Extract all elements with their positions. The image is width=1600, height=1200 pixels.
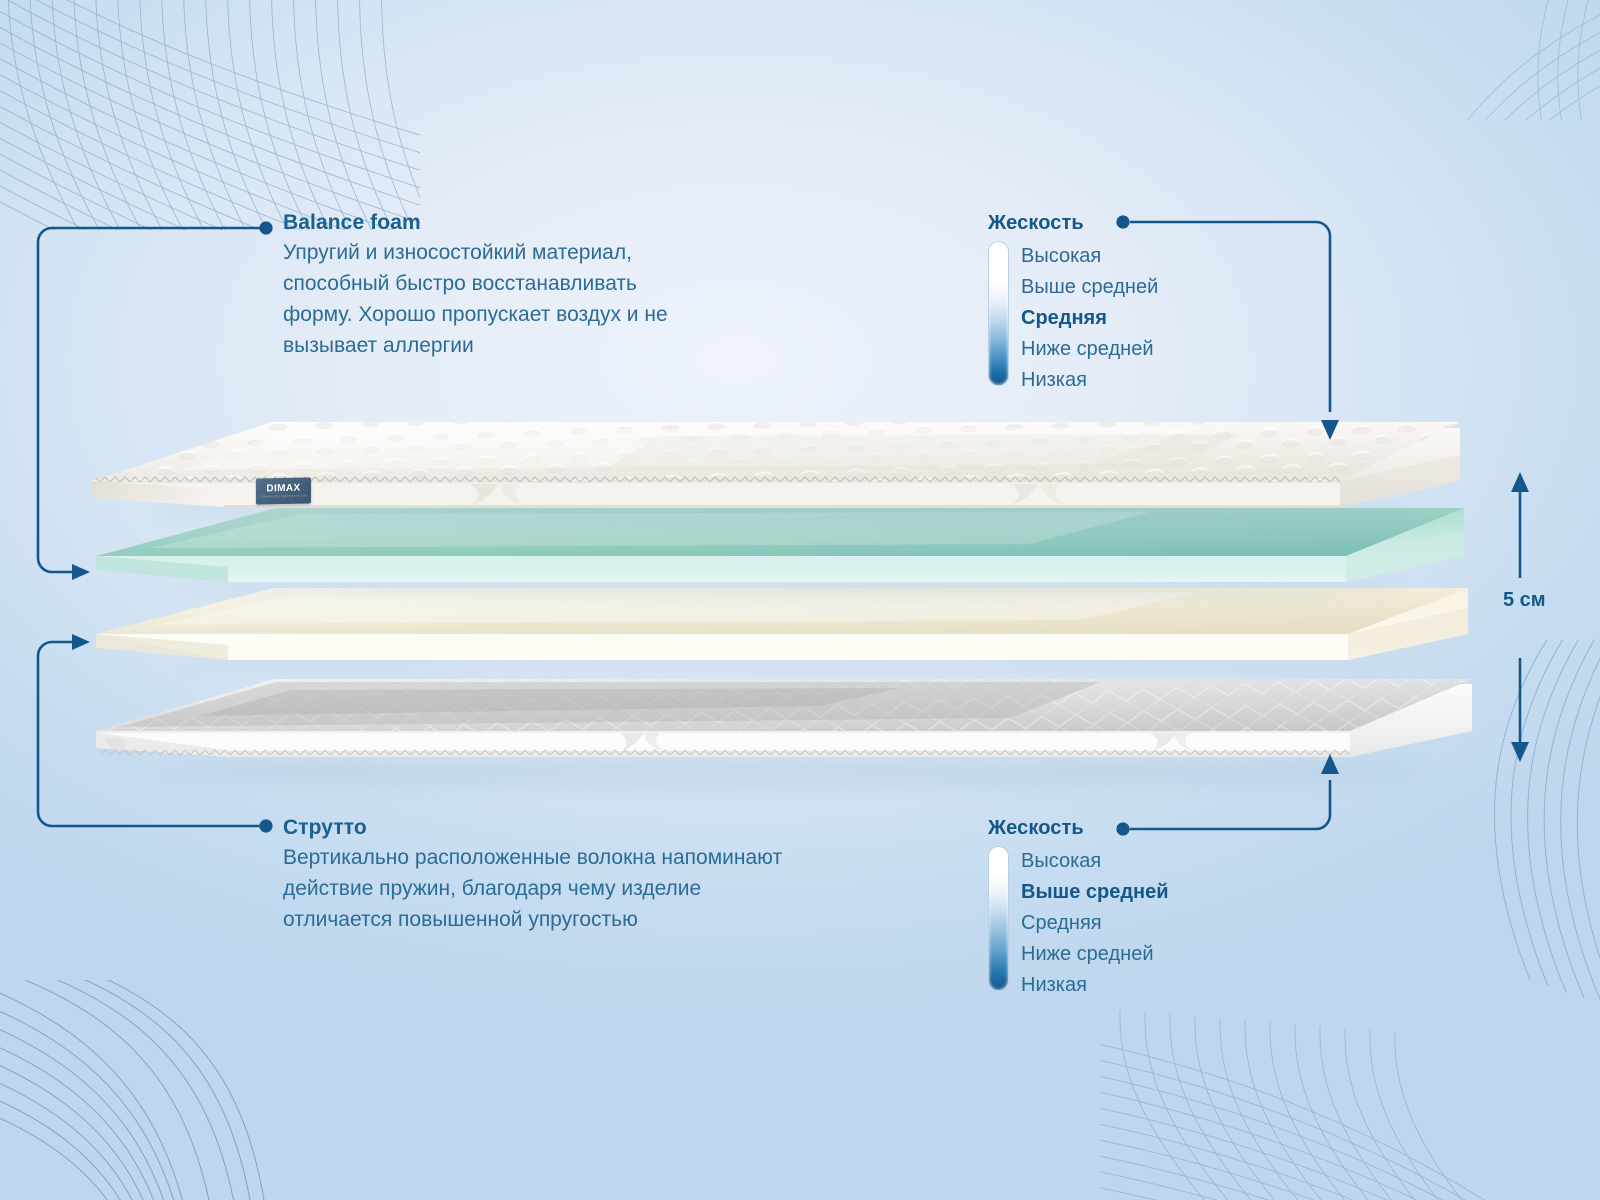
hardness-level: Выше средней [1021,272,1158,303]
dimension-arrow-down [1511,742,1529,762]
hardness-level: Ниже средней [1021,334,1158,365]
arrow-to-bottom-layer [1321,754,1339,774]
hardness-level: Средняя [1021,908,1169,939]
dimension-label: 5 см [1503,589,1546,612]
arrow-to-top-layer [1321,420,1339,440]
hardness-level-selected: Выше средней [1021,877,1169,908]
dimax-logo-subtext: ТОВАРЫ ДЛЯ ЗДОРОВОГО СНА [260,495,307,499]
callout-top-body: Упругий и износостойкий материал, способ… [283,238,703,361]
hardness-top-levels: Высокая Выше средней Средняя Ниже средне… [1021,241,1158,395]
hardness-level: Ниже средней [1021,939,1169,970]
callout-bottom-body: Вертикально расположенные волокна напоми… [283,843,783,936]
hardness-bottom-levels: Высокая Выше средней Средняя Ниже средне… [1021,846,1169,1000]
hardness-level: Низкая [1021,970,1169,1001]
callout-dot-top-left [259,221,272,234]
dimax-brand-tag: DIMAX ТОВАРЫ ДЛЯ ЗДОРОВОГО СНА [256,477,311,504]
arrow-to-teal-layer [72,564,90,580]
dimax-logo-text: DIMAX [266,483,300,494]
hardness-top-gradient-bar [988,241,1009,386]
infographic-canvas: DIMAX ТОВАРЫ ДЛЯ ЗДОРОВОГО СНА Balance f… [0,0,1600,1200]
dimension-arrow-up [1511,472,1529,492]
hardness-level-selected: Средняя [1021,303,1158,334]
hardness-bottom-gradient-bar [988,846,1009,991]
hardness-scale-top: Жескость Высокая Выше средней Средняя Ни… [988,212,1158,395]
hardness-level: Высокая [1021,846,1169,877]
hardness-top-heading: Жескость [988,212,1158,235]
hardness-level: Высокая [1021,241,1158,272]
callout-bottom-left: Струтто Вертикально расположенные волокн… [283,815,783,936]
callout-bottom-title: Струтто [283,815,783,840]
callout-top-title: Balance foam [283,210,703,235]
callout-top-left: Balance foam Упругий и износостойкий мат… [283,210,703,362]
arrow-to-cream-layer [72,634,90,650]
hardness-bottom-heading: Жескость [988,817,1169,840]
callout-dot-bottom-left [259,819,272,832]
hardness-level: Низкая [1021,365,1158,396]
hardness-scale-bottom: Жескость Высокая Выше средней Средняя Ни… [988,817,1169,1000]
callout-connectors [0,0,1600,1200]
